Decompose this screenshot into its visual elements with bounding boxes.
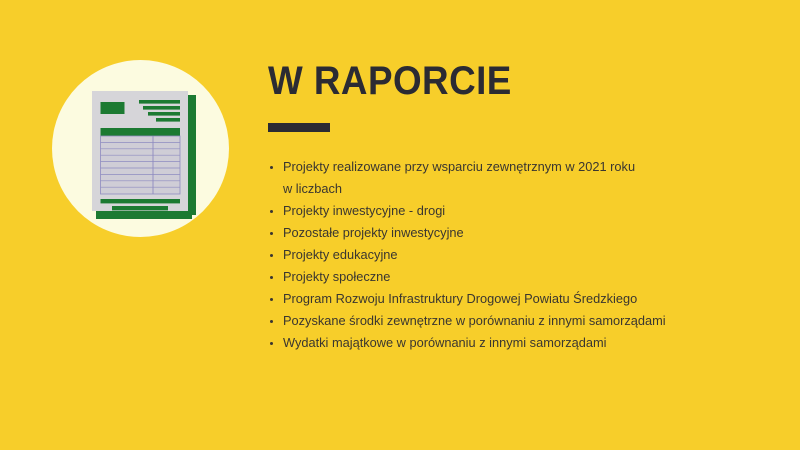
list-item: Projekty realizowane przy wsparciu zewnę… — [268, 156, 768, 200]
page-title: W RAPORCIE — [268, 60, 728, 102]
content-column: W RAPORCIE Projekty realizowane przy wsp… — [268, 60, 768, 354]
list-item: Wydatki majątkowe w porównaniu z innymi … — [268, 332, 768, 354]
list-item: Program Rozwoju Infrastruktury Drogowej … — [268, 288, 768, 310]
report-contents-list: Projekty realizowane przy wsparciu zewnę… — [268, 156, 768, 354]
title-accent-bar — [268, 123, 330, 132]
list-item: Projekty inwestycyjne - drogi — [268, 200, 768, 222]
slide-canvas: W RAPORCIE Projekty realizowane przy wsp… — [0, 0, 800, 450]
report-document-icon — [52, 60, 229, 237]
list-item: Pozostałe projekty inwestycyjne — [268, 222, 768, 244]
list-item: Projekty społeczne — [268, 266, 768, 288]
list-item: Projekty edukacyjne — [268, 244, 768, 266]
list-item: Pozyskane środki zewnętrzne w porównaniu… — [268, 310, 768, 332]
illustration-group — [52, 60, 229, 237]
